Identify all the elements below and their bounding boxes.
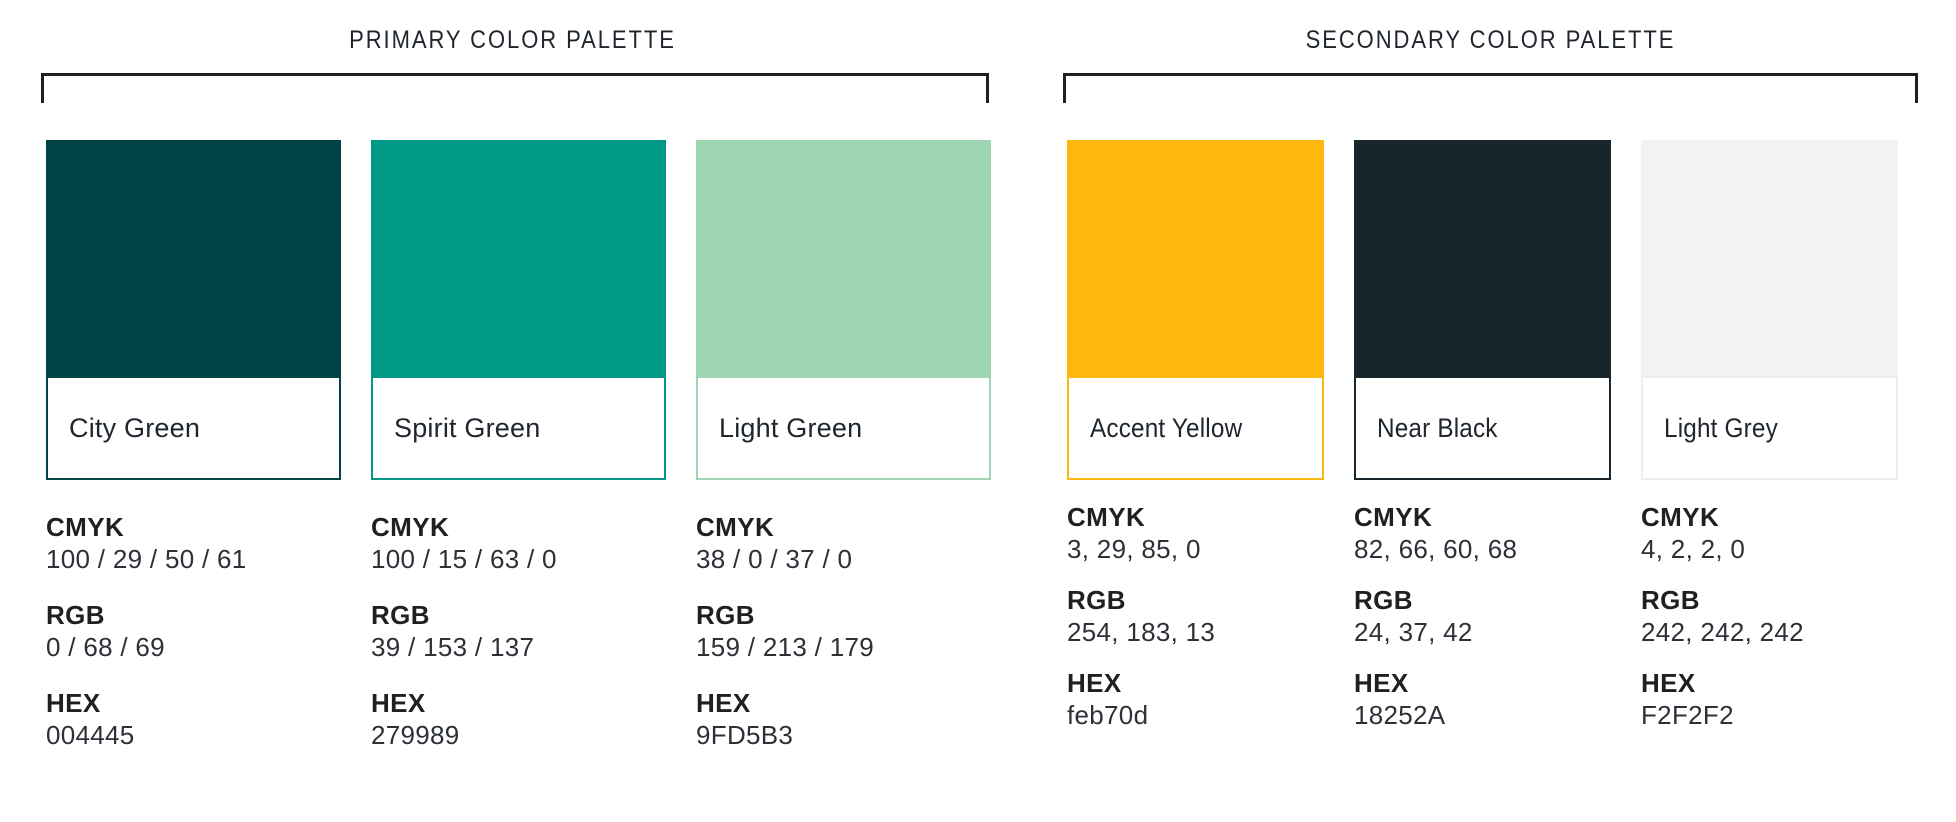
cmyk-group: CMYK 3, 29, 85, 0 (1067, 502, 1324, 566)
swatch-light-grey[interactable]: Light Grey CMYK 4, 2, 2, 0 RGB 242, 242,… (1641, 140, 1898, 480)
cmyk-label: CMYK (1354, 502, 1611, 533)
cmyk-value: 100 / 15 / 63 / 0 (371, 543, 666, 576)
cmyk-label: CMYK (1641, 502, 1898, 533)
swatch-name: Light Green (719, 413, 862, 444)
cmyk-value: 38 / 0 / 37 / 0 (696, 543, 991, 576)
swatch-label-box: Accent Yellow (1067, 376, 1324, 480)
rgb-label: RGB (46, 600, 341, 631)
rgb-value: 39 / 153 / 137 (371, 631, 666, 664)
swatch-city-green[interactable]: City Green CMYK 100 / 29 / 50 / 61 RGB 0… (46, 140, 341, 480)
rgb-group: RGB 254, 183, 13 (1067, 585, 1324, 649)
primary-palette-title: PRIMARY COLOR PALETTE (62, 26, 964, 55)
secondary-swatch-row: Accent Yellow CMYK 3, 29, 85, 0 RGB 254,… (1067, 140, 1898, 480)
rgb-value: 0 / 68 / 69 (46, 631, 341, 664)
hex-value: 9FD5B3 (696, 719, 991, 752)
hex-label: HEX (1641, 668, 1898, 699)
rgb-label: RGB (1354, 585, 1611, 616)
swatch-name: Accent Yellow (1090, 413, 1242, 444)
swatch-spirit-green[interactable]: Spirit Green CMYK 100 / 15 / 63 / 0 RGB … (371, 140, 666, 480)
swatch-light-green[interactable]: Light Green CMYK 38 / 0 / 37 / 0 RGB 159… (696, 140, 991, 480)
hex-group: HEX 004445 (46, 688, 341, 752)
rgb-label: RGB (696, 600, 991, 631)
cmyk-label: CMYK (46, 512, 341, 543)
cmyk-group: CMYK 100 / 15 / 63 / 0 (371, 512, 666, 576)
swatch-label-box: Light Green (696, 376, 991, 480)
rgb-label: RGB (371, 600, 666, 631)
rgb-value: 24, 37, 42 (1354, 616, 1611, 649)
cmyk-group: CMYK 38 / 0 / 37 / 0 (696, 512, 991, 576)
secondary-palette-title: SECONDARY COLOR PALETTE (1081, 26, 1900, 55)
cmyk-value: 82, 66, 60, 68 (1354, 533, 1611, 566)
swatch-chip[interactable] (1067, 140, 1324, 376)
cmyk-value: 100 / 29 / 50 / 61 (46, 543, 341, 576)
rgb-group: RGB 24, 37, 42 (1354, 585, 1611, 649)
cmyk-label: CMYK (371, 512, 666, 543)
rgb-value: 159 / 213 / 179 (696, 631, 991, 664)
swatch-spec-block: CMYK 38 / 0 / 37 / 0 RGB 159 / 213 / 179… (696, 512, 991, 752)
secondary-palette-bracket (1063, 73, 1918, 103)
cmyk-group: CMYK 4, 2, 2, 0 (1641, 502, 1898, 566)
swatch-chip[interactable] (1354, 140, 1611, 376)
hex-label: HEX (1067, 668, 1324, 699)
swatch-spec-block: CMYK 4, 2, 2, 0 RGB 242, 242, 242 HEX F2… (1641, 502, 1898, 751)
hex-group: HEX 18252A (1354, 668, 1611, 732)
swatch-label-box: Light Grey (1641, 376, 1898, 480)
swatch-label-box: Near Black (1354, 376, 1611, 480)
primary-swatch-row: City Green CMYK 100 / 29 / 50 / 61 RGB 0… (46, 140, 991, 480)
hex-label: HEX (696, 688, 991, 719)
swatch-chip[interactable] (1641, 140, 1898, 376)
hex-value: feb70d (1067, 699, 1324, 732)
swatch-near-black[interactable]: Near Black CMYK 82, 66, 60, 68 RGB 24, 3… (1354, 140, 1611, 480)
secondary-palette-section: SECONDARY COLOR PALETTE Accent Yellow CM… (1025, 0, 1956, 822)
hex-value: 004445 (46, 719, 341, 752)
cmyk-label: CMYK (696, 512, 991, 543)
hex-value: 279989 (371, 719, 666, 752)
swatch-chip[interactable] (371, 140, 666, 376)
rgb-group: RGB 242, 242, 242 (1641, 585, 1898, 649)
hex-group: HEX F2F2F2 (1641, 668, 1898, 732)
swatch-spec-block: CMYK 3, 29, 85, 0 RGB 254, 183, 13 HEX f… (1067, 502, 1324, 751)
cmyk-value: 3, 29, 85, 0 (1067, 533, 1324, 566)
rgb-value: 254, 183, 13 (1067, 616, 1324, 649)
swatch-accent-yellow[interactable]: Accent Yellow CMYK 3, 29, 85, 0 RGB 254,… (1067, 140, 1324, 480)
swatch-chip[interactable] (696, 140, 991, 376)
swatch-label-box: City Green (46, 376, 341, 480)
hex-label: HEX (371, 688, 666, 719)
swatch-spec-block: CMYK 82, 66, 60, 68 RGB 24, 37, 42 HEX 1… (1354, 502, 1611, 751)
primary-palette-bracket (41, 73, 989, 103)
hex-label: HEX (46, 688, 341, 719)
swatch-name: Spirit Green (394, 413, 540, 444)
rgb-group: RGB 159 / 213 / 179 (696, 600, 991, 664)
cmyk-label: CMYK (1067, 502, 1324, 533)
swatch-name: Light Grey (1664, 413, 1778, 444)
cmyk-value: 4, 2, 2, 0 (1641, 533, 1898, 566)
cmyk-group: CMYK 100 / 29 / 50 / 61 (46, 512, 341, 576)
swatch-label-box: Spirit Green (371, 376, 666, 480)
rgb-group: RGB 39 / 153 / 137 (371, 600, 666, 664)
swatch-name: City Green (69, 413, 200, 444)
rgb-group: RGB 0 / 68 / 69 (46, 600, 341, 664)
hex-value: F2F2F2 (1641, 699, 1898, 732)
hex-group: HEX 9FD5B3 (696, 688, 991, 752)
swatch-spec-block: CMYK 100 / 29 / 50 / 61 RGB 0 / 68 / 69 … (46, 512, 341, 752)
rgb-label: RGB (1641, 585, 1898, 616)
rgb-label: RGB (1067, 585, 1324, 616)
swatch-chip[interactable] (46, 140, 341, 376)
hex-group: HEX 279989 (371, 688, 666, 752)
rgb-value: 242, 242, 242 (1641, 616, 1898, 649)
color-palette-page: PRIMARY COLOR PALETTE City Green CMYK 10… (0, 0, 1956, 822)
swatch-name: Near Black (1377, 413, 1498, 444)
cmyk-group: CMYK 82, 66, 60, 68 (1354, 502, 1611, 566)
hex-group: HEX feb70d (1067, 668, 1324, 732)
swatch-spec-block: CMYK 100 / 15 / 63 / 0 RGB 39 / 153 / 13… (371, 512, 666, 752)
hex-value: 18252A (1354, 699, 1611, 732)
primary-palette-section: PRIMARY COLOR PALETTE City Green CMYK 10… (0, 0, 1025, 822)
hex-label: HEX (1354, 668, 1611, 699)
